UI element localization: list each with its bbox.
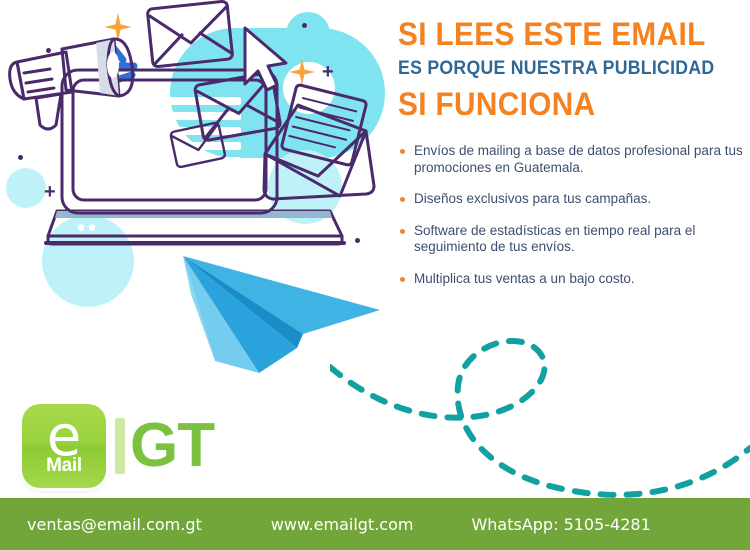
dashed-trail-path bbox=[330, 330, 750, 505]
promo-banner: + + .ln { stroke:#4A2A6B; stroke-width:3… bbox=[0, 0, 750, 550]
footer-website[interactable]: www.emailgt.com bbox=[271, 515, 414, 534]
bullet-dot-icon bbox=[400, 229, 405, 234]
list-item: Multiplica tus ventas a un bajo costo. bbox=[398, 271, 743, 287]
headline-tertiary: SI FUNCIONA bbox=[398, 88, 719, 121]
list-item-label: Envíos de mailing a base de datos profes… bbox=[414, 143, 743, 174]
bullet-dot-icon bbox=[400, 277, 405, 282]
list-item-label: Software de estadísticas en tiempo real … bbox=[414, 223, 695, 254]
logo-letter-e: e bbox=[47, 415, 81, 459]
brand-logo: e Mail GT bbox=[22, 404, 214, 488]
logo-word-mail: Mail bbox=[46, 456, 82, 475]
list-item: Envíos de mailing a base de datos profes… bbox=[398, 143, 743, 176]
email-marketing-illustration: .ln { stroke:#4A2A6B; stroke-width:3; st… bbox=[0, 0, 390, 270]
bullet-dot-icon bbox=[400, 149, 405, 154]
envelope-top-icon bbox=[147, 1, 233, 67]
list-item: Software de estadísticas en tiempo real … bbox=[398, 223, 743, 256]
contact-footer-bar: ventas@email.com.gt www.emailgt.com What… bbox=[0, 498, 750, 550]
illustration-svg: .ln { stroke:#4A2A6B; stroke-width:3; st… bbox=[0, 0, 390, 270]
logo-suffix-gt: GT bbox=[130, 419, 214, 472]
copy-column: SI LEES ESTE EMAIL ES PORQUE NUESTRA PUB… bbox=[398, 18, 743, 287]
headline-secondary: ES PORQUE NUESTRA PUBLICIDAD bbox=[398, 59, 719, 79]
bullet-dot-icon bbox=[400, 197, 405, 202]
logo-divider bbox=[115, 418, 125, 474]
benefits-list: Envíos de mailing a base de datos profes… bbox=[398, 143, 743, 287]
dashed-trail-svg bbox=[330, 330, 750, 505]
list-item-label: Multiplica tus ventas a un bajo costo. bbox=[414, 271, 635, 286]
envelope-document-icon bbox=[264, 84, 374, 199]
footer-whatsapp[interactable]: WhatsApp: 5105-4281 bbox=[471, 515, 650, 534]
list-item-label: Diseños exclusivos para tus campañas. bbox=[414, 191, 651, 206]
headline-primary: SI LEES ESTE EMAIL bbox=[398, 18, 719, 51]
list-item: Diseños exclusivos para tus campañas. bbox=[398, 191, 743, 207]
logo-badge-icon: e Mail bbox=[22, 404, 106, 488]
footer-email[interactable]: ventas@email.com.gt bbox=[27, 515, 202, 534]
